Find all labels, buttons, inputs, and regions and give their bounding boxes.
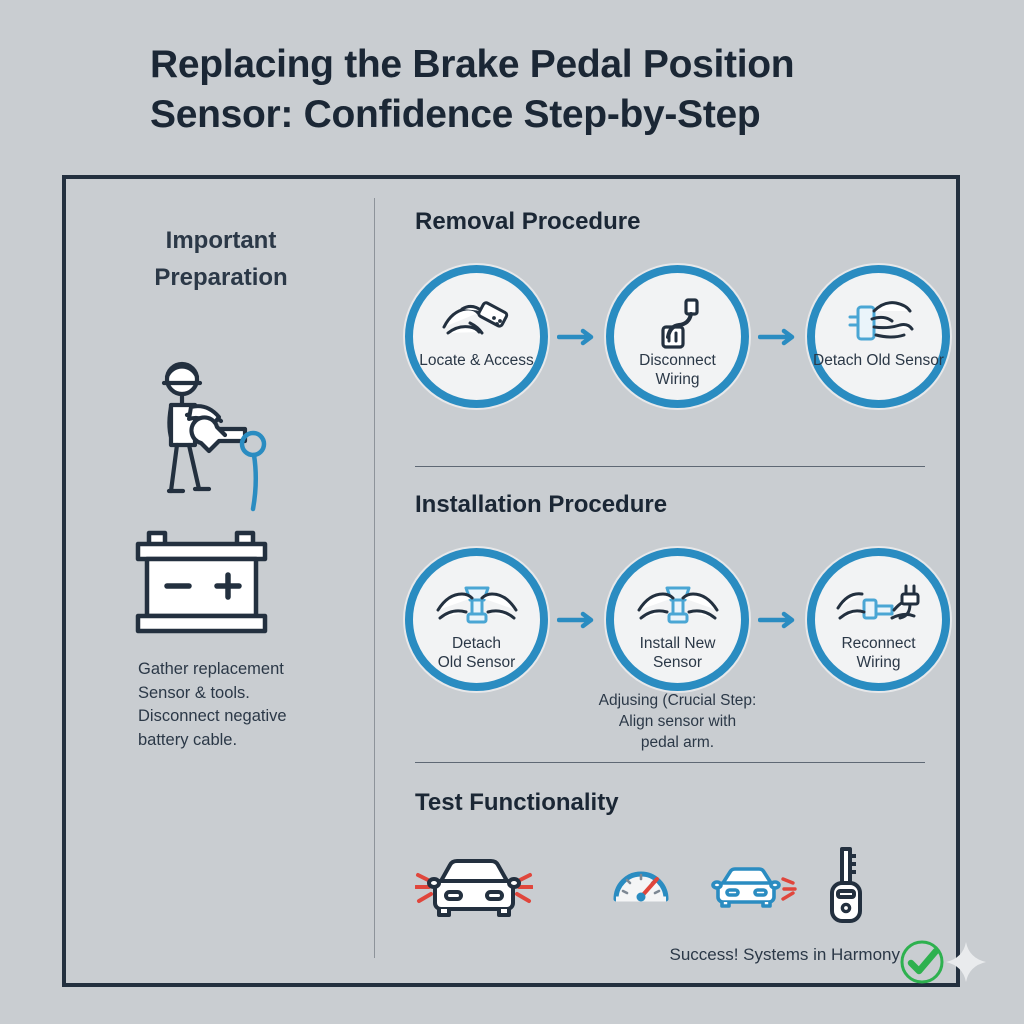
preparation-text: Gather replacement Sensor & tools. Disco… <box>138 658 353 752</box>
prep-line-4: battery cable. <box>138 729 353 753</box>
installation-steps-row: Detach Old Sensor <box>405 548 950 691</box>
step-detach-old-sensor[interactable]: Detach Old Sensor <box>807 265 950 408</box>
preparation-heading-line1: Important <box>86 222 356 259</box>
hand-removing-sensor-icon <box>844 297 914 347</box>
step-label: Install New Sensor <box>608 634 747 672</box>
mechanic-with-wrench-icon <box>135 355 305 515</box>
arrow-right-icon-2 <box>749 327 807 347</box>
wiring-connector-icon <box>652 297 704 349</box>
step-label: Disconnect Wiring <box>608 351 747 389</box>
installation-section-title: Installation Procedure <box>415 491 667 519</box>
step-reconnect-wiring[interactable]: Reconnect Wiring <box>807 548 950 691</box>
preparation-heading-line2: Preparation <box>86 259 356 296</box>
test-icons-row <box>415 845 925 935</box>
prep-line-3: Disconnect negative <box>138 705 353 729</box>
prep-line-2: Sensor & tools. <box>138 682 353 706</box>
step-label: Detach Old Sensor <box>407 634 546 672</box>
infographic-page: Replacing the Brake Pedal Position Senso… <box>0 0 1024 1024</box>
hand-holding-sensor-icon <box>440 297 514 345</box>
test-section-title: Test Functionality <box>415 789 619 817</box>
note-line-1: Adjusing (Crucial Step: <box>560 690 795 711</box>
green-check-circle-icon <box>898 938 946 986</box>
section-separator-2 <box>415 762 925 763</box>
sparkle-star-icon <box>944 940 988 984</box>
step-disconnect-wiring[interactable]: Disconnect Wiring <box>606 265 749 408</box>
step-install-new-sensor[interactable]: Install New Sensor <box>606 548 749 691</box>
removal-steps-row: Locate & Access Disconnect Wiring <box>405 265 950 408</box>
note-line-3: pedal arm. <box>560 732 795 753</box>
installation-note: Adjusing (Crucial Step: Align sensor wit… <box>560 690 795 753</box>
two-hands-sensor-icon <box>436 580 518 626</box>
blue-car-signal-icon <box>705 863 801 911</box>
arrow-right-icon-1 <box>548 327 606 347</box>
column-divider <box>374 198 375 958</box>
two-hands-plug-icon <box>836 580 922 630</box>
step-label: Detach Old Sensor <box>809 351 948 370</box>
speedometer-gauge-icon <box>611 853 671 909</box>
removal-section-title: Removal Procedure <box>415 208 640 236</box>
two-hands-install-sensor-icon <box>637 580 719 626</box>
car-front-brake-lights-icon <box>415 851 533 919</box>
car-battery-icon <box>133 528 288 643</box>
section-separator-1 <box>415 466 925 467</box>
page-title-line1: Replacing the Brake Pedal Position <box>150 43 794 86</box>
step-locate-access[interactable]: Locate & Access <box>405 265 548 408</box>
ignition-key-icon <box>825 845 867 927</box>
arrow-right-icon-3 <box>548 610 606 630</box>
step-label: Reconnect Wiring <box>809 634 948 672</box>
success-text: Success! Systems in Harmony <box>600 945 900 965</box>
page-title-line2: Sensor: Confidence Step-by-Step <box>150 90 930 140</box>
note-line-2: Align sensor with <box>560 711 795 732</box>
preparation-heading: Important Preparation <box>86 222 356 296</box>
step-detach-old-sensor-2[interactable]: Detach Old Sensor <box>405 548 548 691</box>
arrow-right-icon-4 <box>749 610 807 630</box>
page-title: Replacing the Brake Pedal Position Senso… <box>150 40 930 140</box>
step-label: Locate & Access <box>407 351 546 370</box>
prep-line-1: Gather replacement <box>138 658 353 682</box>
